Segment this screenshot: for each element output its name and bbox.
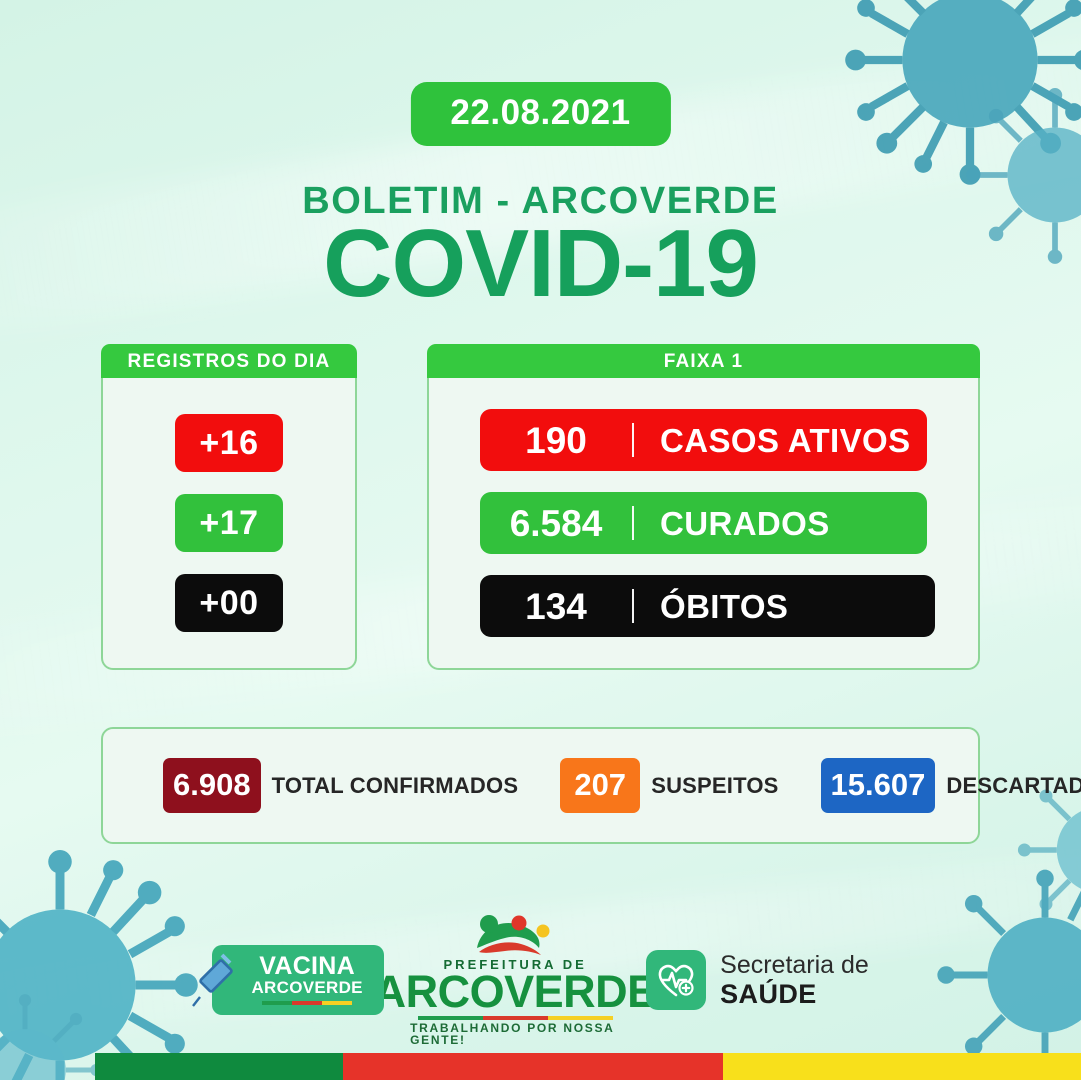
daily-recovered-chip: +17 [175,494,283,552]
daily-new-cases-chip: +16 [175,414,283,472]
stripe-segment-red [343,1053,723,1080]
vacina-line2: ARCOVERDE [251,979,362,998]
faixa-panel-body: 190 CASOS ATIVOS 6.584 CURADOS 134 ÓBITO… [427,378,980,670]
divider [632,589,634,623]
total-confirmed-value: 6.908 [163,758,261,813]
active-cases-value: 190 [480,422,632,459]
secretaria-saude-logo: Secretaria de SAÚDE [646,950,869,1010]
faixa-panel-header: FAIXA 1 [427,344,980,378]
recovered-row: 6.584 CURADOS [480,492,927,554]
flag-rule [262,1001,352,1005]
deaths-value: 134 [480,588,632,625]
prefeitura-big-label: ARCOVERDE [374,971,657,1014]
active-cases-label: CASOS ATIVOS [634,424,927,457]
recovered-label: CURADOS [634,507,927,540]
prefeitura-mark-icon [467,914,563,960]
bottom-flag-stripe [95,1053,1081,1080]
date-badge: 22.08.2021 [410,82,670,146]
total-confirmed-label: TOTAL CONFIRMADOS [272,775,519,797]
virus-particle-icon [840,0,1081,190]
page-title: COVID-19 [0,216,1081,312]
daily-records-panel: REGISTROS DO DIA +16 +17 +00 [101,344,357,670]
covid-bulletin-poster: 22.08.2021 BOLETIM - ARCOVERDE COVID-19 … [0,0,1081,1080]
syringe-icon [190,949,236,1016]
daily-records-header: REGISTROS DO DIA [101,344,357,378]
suspected-value: 207 [560,758,640,813]
stripe-segment-green [95,1053,343,1080]
saude-line2: SAÚDE [720,979,869,1009]
vacina-arcoverde-logo: VACINA ARCOVERDE [212,945,384,1015]
discarded-value: 15.607 [821,758,936,813]
discarded-label: DESCARTADOS [946,775,1081,797]
heart-pulse-icon [646,950,706,1010]
vacina-line1: VACINA [259,955,355,979]
suspected-label: SUSPEITOS [651,775,778,797]
suspected-item: 207 SUSPEITOS [560,758,778,813]
totals-strip: 6.908 TOTAL CONFIRMADOS 207 SUSPEITOS 15… [101,727,980,844]
stripe-segment-yellow [723,1053,1081,1080]
prefeitura-arcoverde-logo: PREFEITURA DE ARCOVERDE TRABALHANDO POR … [410,914,620,1047]
deaths-row: 134 ÓBITOS [480,575,935,637]
flag-rule [418,1016,613,1020]
deaths-label: ÓBITOS [634,590,935,623]
recovered-value: 6.584 [480,505,632,542]
prefeitura-tagline: TRABALHANDO POR NOSSA GENTE! [410,1022,620,1046]
active-cases-row: 190 CASOS ATIVOS [480,409,927,471]
divider [632,423,634,457]
saude-line1: Secretaria de [720,951,869,979]
discarded-item: 15.607 DESCARTADOS [821,758,1081,813]
total-confirmed-item: 6.908 TOTAL CONFIRMADOS [163,758,518,813]
daily-deaths-chip: +00 [175,574,283,632]
daily-records-body: +16 +17 +00 [101,378,357,670]
footer-logos: VACINA ARCOVERDE PREFEITURA DE ARCOVERDE [0,925,1081,1035]
divider [632,506,634,540]
faixa-panel: FAIXA 1 190 CASOS ATIVOS 6.584 CURADOS 1… [427,344,980,670]
saude-text: Secretaria de SAÚDE [720,951,869,1009]
